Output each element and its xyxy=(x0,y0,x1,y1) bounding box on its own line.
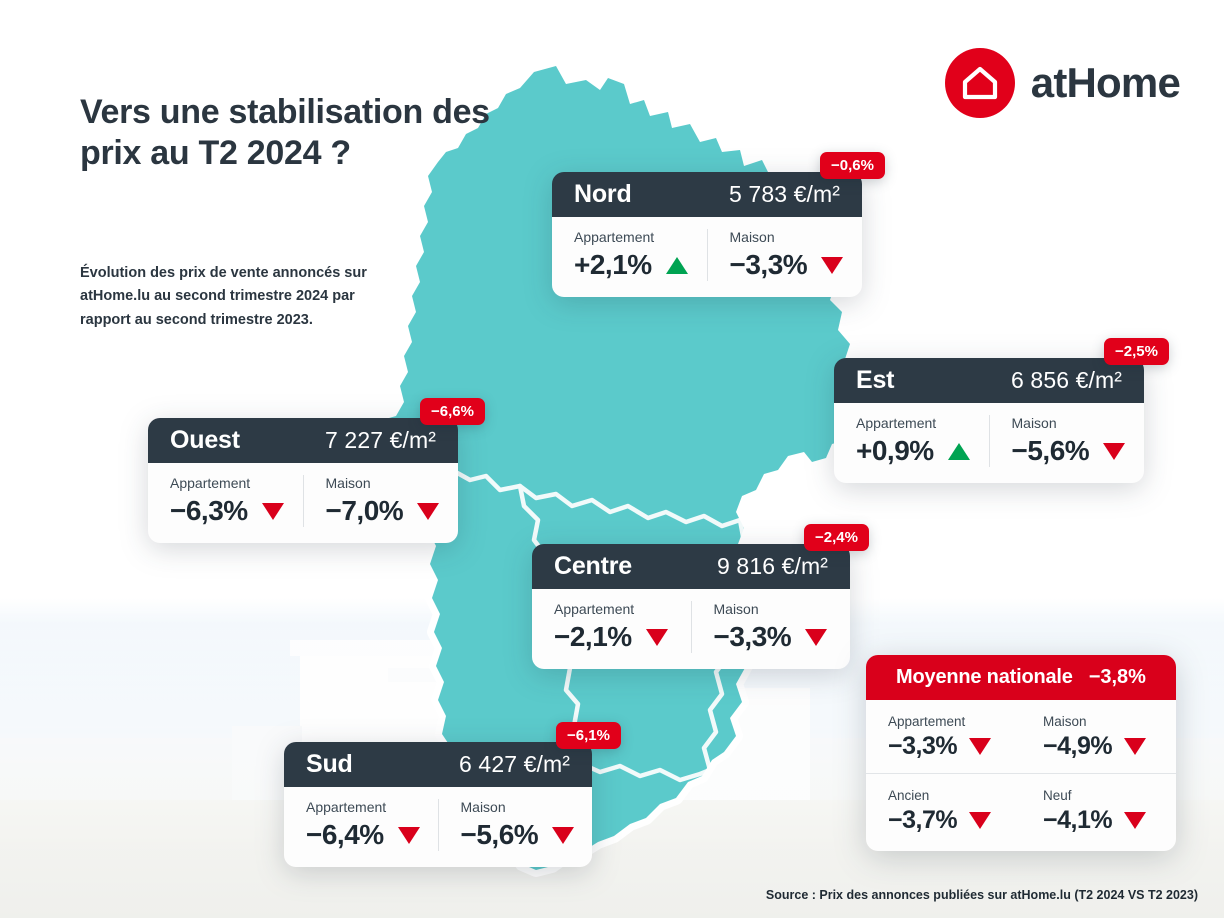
metric-label: Neuf xyxy=(1043,788,1154,803)
region-name-nord: Nord xyxy=(574,180,632,209)
metric-value: −3,7% xyxy=(888,806,957,835)
national-row-age: Ancien −3,7% Neuf −4,1% xyxy=(866,773,1176,835)
metric-sud-maison: Maison −5,6% xyxy=(438,799,593,851)
metric-value: −7,0% xyxy=(326,495,404,527)
badge-ouest: −6,6% xyxy=(420,398,485,425)
metric-value: +0,9% xyxy=(856,435,934,467)
triangle-down-icon xyxy=(1103,443,1125,460)
national-value: −3,8% xyxy=(1089,666,1146,689)
region-price-sud: 6 427 €/m² xyxy=(459,751,570,778)
metric-sud-appartement: Appartement −6,4% xyxy=(284,799,438,851)
metric-value: −4,1% xyxy=(1043,806,1112,835)
region-name-sud: Sud xyxy=(306,750,353,779)
card-header-centre: Centre 9 816 €/m² xyxy=(532,544,850,589)
triangle-down-icon xyxy=(969,812,991,829)
metric-national-maison: Maison −4,9% xyxy=(1021,714,1176,761)
region-card-est[interactable]: Est 6 856 €/m² Appartement +0,9% Maison … xyxy=(834,358,1144,483)
metric-label: Appartement xyxy=(306,799,416,815)
metric-label: Maison xyxy=(730,229,841,245)
metric-label: Maison xyxy=(714,601,829,617)
metric-label: Appartement xyxy=(170,475,281,491)
house-in-circle-icon xyxy=(945,48,1015,118)
metric-nord-appartement: Appartement +2,1% xyxy=(552,229,707,281)
triangle-down-icon xyxy=(552,827,574,844)
metric-value: −3,3% xyxy=(714,621,792,653)
triangle-down-icon xyxy=(1124,812,1146,829)
metric-value: −6,4% xyxy=(306,819,384,851)
national-average-card[interactable]: Moyenne nationale −3,8% Appartement −3,3… xyxy=(866,655,1176,851)
metric-label: Appartement xyxy=(888,714,999,729)
card-header-sud: Sud 6 427 €/m² xyxy=(284,742,592,787)
metric-value: −3,3% xyxy=(730,249,808,281)
triangle-up-icon xyxy=(948,443,970,460)
triangle-down-icon xyxy=(805,629,827,646)
metric-ouest-appartement: Appartement −6,3% xyxy=(148,475,303,527)
metric-value: −5,6% xyxy=(461,819,539,851)
metric-nord-maison: Maison −3,3% xyxy=(707,229,863,281)
badge-centre: −2,4% xyxy=(804,524,869,551)
national-body: Appartement −3,3% Maison −4,9% Ancie xyxy=(866,700,1176,851)
metric-value: +2,1% xyxy=(574,249,652,281)
triangle-down-icon xyxy=(646,629,668,646)
triangle-down-icon xyxy=(969,738,991,755)
source-note: Source : Prix des annonces publiées sur … xyxy=(766,888,1198,902)
national-title: Moyenne nationale xyxy=(896,666,1073,689)
metric-centre-maison: Maison −3,3% xyxy=(691,601,851,653)
badge-est: −2,5% xyxy=(1104,338,1169,365)
metric-value: −6,3% xyxy=(170,495,248,527)
region-card-ouest[interactable]: Ouest 7 227 €/m² Appartement −6,3% Maiso… xyxy=(148,418,458,543)
metric-label: Maison xyxy=(326,475,437,491)
metric-est-appartement: Appartement +0,9% xyxy=(834,415,989,467)
national-row-types: Appartement −3,3% Maison −4,9% xyxy=(866,714,1176,761)
triangle-down-icon xyxy=(1124,738,1146,755)
metric-label: Ancien xyxy=(888,788,999,803)
badge-nord: −0,6% xyxy=(820,152,885,179)
region-name-ouest: Ouest xyxy=(170,426,240,455)
metric-ouest-maison: Maison −7,0% xyxy=(303,475,459,527)
metric-label: Maison xyxy=(461,799,571,815)
metric-centre-appartement: Appartement −2,1% xyxy=(532,601,691,653)
metric-value: −5,6% xyxy=(1012,435,1090,467)
triangle-down-icon xyxy=(398,827,420,844)
athome-logo[interactable]: atHome xyxy=(945,48,1180,118)
metric-national-neuf: Neuf −4,1% xyxy=(1021,788,1176,835)
metric-value: −2,1% xyxy=(554,621,632,653)
region-name-centre: Centre xyxy=(554,552,632,581)
card-header-est: Est 6 856 €/m² xyxy=(834,358,1144,403)
metric-national-ancien: Ancien −3,7% xyxy=(866,788,1021,835)
metric-label: Appartement xyxy=(856,415,967,431)
triangle-down-icon xyxy=(417,503,439,520)
metric-label: Maison xyxy=(1043,714,1154,729)
card-body-nord: Appartement +2,1% Maison −3,3% xyxy=(552,217,862,297)
metric-national-appartement: Appartement −3,3% xyxy=(866,714,1021,761)
metric-label: Appartement xyxy=(554,601,669,617)
triangle-down-icon xyxy=(262,503,284,520)
badge-sud: −6,1% xyxy=(556,722,621,749)
triangle-down-icon xyxy=(821,257,843,274)
page-title: Vers une stabilisation des prix au T2 20… xyxy=(80,92,550,175)
region-price-ouest: 7 227 €/m² xyxy=(325,427,436,454)
triangle-up-icon xyxy=(666,257,688,274)
infographic-canvas: Vers une stabilisation des prix au T2 20… xyxy=(0,0,1224,918)
metric-label: Maison xyxy=(1012,415,1123,431)
region-name-est: Est xyxy=(856,366,894,395)
region-card-sud[interactable]: Sud 6 427 €/m² Appartement −6,4% Maison … xyxy=(284,742,592,867)
page-subtitle: Évolution des prix de vente annoncés sur… xyxy=(80,262,390,332)
region-price-centre: 9 816 €/m² xyxy=(717,553,828,580)
metric-value: −3,3% xyxy=(888,732,957,761)
metric-label: Appartement xyxy=(574,229,685,245)
region-price-est: 6 856 €/m² xyxy=(1011,367,1122,394)
region-card-centre[interactable]: Centre 9 816 €/m² Appartement −2,1% Mais… xyxy=(532,544,850,669)
metric-value: −4,9% xyxy=(1043,732,1112,761)
card-body-est: Appartement +0,9% Maison −5,6% xyxy=(834,403,1144,483)
card-body-centre: Appartement −2,1% Maison −3,3% xyxy=(532,589,850,669)
metric-est-maison: Maison −5,6% xyxy=(989,415,1145,467)
card-header-nord: Nord 5 783 €/m² xyxy=(552,172,862,217)
region-price-nord: 5 783 €/m² xyxy=(729,181,840,208)
card-body-sud: Appartement −6,4% Maison −5,6% xyxy=(284,787,592,867)
card-body-ouest: Appartement −6,3% Maison −7,0% xyxy=(148,463,458,543)
region-card-nord[interactable]: Nord 5 783 €/m² Appartement +2,1% Maison… xyxy=(552,172,862,297)
card-header-ouest: Ouest 7 227 €/m² xyxy=(148,418,458,463)
logo-wordmark: atHome xyxy=(1031,59,1180,107)
national-header: Moyenne nationale −3,8% xyxy=(866,655,1176,700)
